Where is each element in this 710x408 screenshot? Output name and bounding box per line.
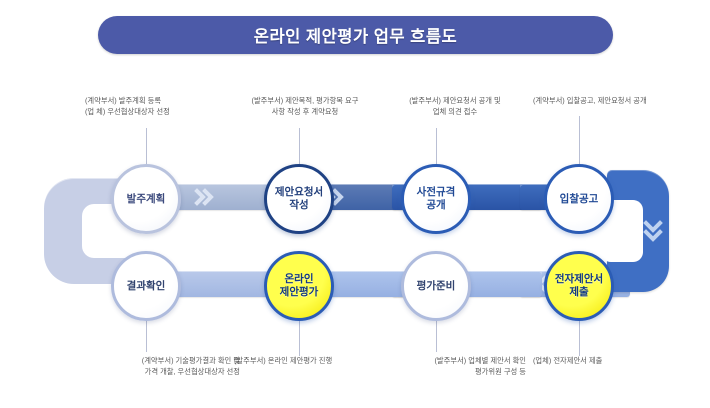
diagram-title-banner: 온라인 제안평가 업무 흐름도 bbox=[98, 16, 613, 54]
annotation-step8: (계약부서) 기술평가결과 확인 및 가격 개찰, 우선협상대상자 선정 bbox=[80, 356, 240, 377]
loop-connector-right bbox=[607, 170, 669, 292]
annotation-step4: (계약부서) 입찰공고, 제안요청서 공개 bbox=[533, 96, 693, 107]
flow-node-step3[interactable]: 사전규격 공개 bbox=[401, 164, 471, 234]
leader-line bbox=[436, 316, 437, 352]
leader-line bbox=[579, 316, 580, 356]
flow-node-step6[interactable]: 평가준비 bbox=[401, 251, 471, 321]
flow-node-label: 제안요청서 작성 bbox=[275, 186, 323, 212]
leader-line bbox=[299, 128, 300, 164]
flow-diagram-canvas: 온라인 제안평가 업무 흐름도 bbox=[0, 0, 710, 408]
chevron-right-icon bbox=[192, 184, 218, 210]
flow-node-step1[interactable]: 발주계획 bbox=[111, 164, 181, 234]
flow-node-label: 전자제안서 제출 bbox=[555, 273, 603, 299]
annotation-step6: (발주부서) 업체별 제안서 확인 평가위원 구성 등 bbox=[382, 356, 526, 377]
flow-node-step8[interactable]: 결과확인 bbox=[111, 251, 181, 321]
flow-node-label: 입찰공고 bbox=[560, 193, 599, 206]
leader-line bbox=[146, 128, 147, 164]
leader-line bbox=[146, 316, 147, 352]
flow-node-label: 온라인 제안평가 bbox=[280, 273, 319, 299]
flow-node-step7[interactable]: 온라인 제안평가 bbox=[264, 251, 334, 321]
leader-line bbox=[436, 128, 437, 164]
annotation-step3: (발주부서) 제안요청서 공개 및 업체 의견 접수 bbox=[385, 96, 525, 117]
leader-line bbox=[579, 116, 580, 164]
annotation-step1: (계약부서) 발주계획 등록 (업 체) 우선협상대상자 선정 bbox=[85, 96, 255, 117]
flow-node-label: 결과확인 bbox=[127, 280, 166, 293]
flow-node-step5[interactable]: 전자제안서 제출 bbox=[544, 251, 614, 321]
chevron-down-icon bbox=[639, 218, 667, 246]
flow-node-label: 평가준비 bbox=[417, 280, 456, 293]
flow-node-step2[interactable]: 제안요청서 작성 bbox=[264, 164, 334, 234]
flow-node-label: 사전규격 공개 bbox=[417, 186, 456, 212]
page-title: 온라인 제안평가 업무 흐름도 bbox=[254, 23, 457, 47]
annotation-step7: (발주부서) 온라인 제안평가 진행 bbox=[234, 356, 384, 367]
annotation-step5: (업체) 전자제안서 제출 bbox=[533, 356, 683, 367]
flow-node-step4[interactable]: 입찰공고 bbox=[544, 164, 614, 234]
annotation-step2: (발주부서) 제안목적, 평가항목 요구 사항 작성 후 계약요청 bbox=[234, 96, 376, 117]
leader-line bbox=[299, 316, 300, 356]
flow-node-label: 발주계획 bbox=[127, 193, 166, 206]
